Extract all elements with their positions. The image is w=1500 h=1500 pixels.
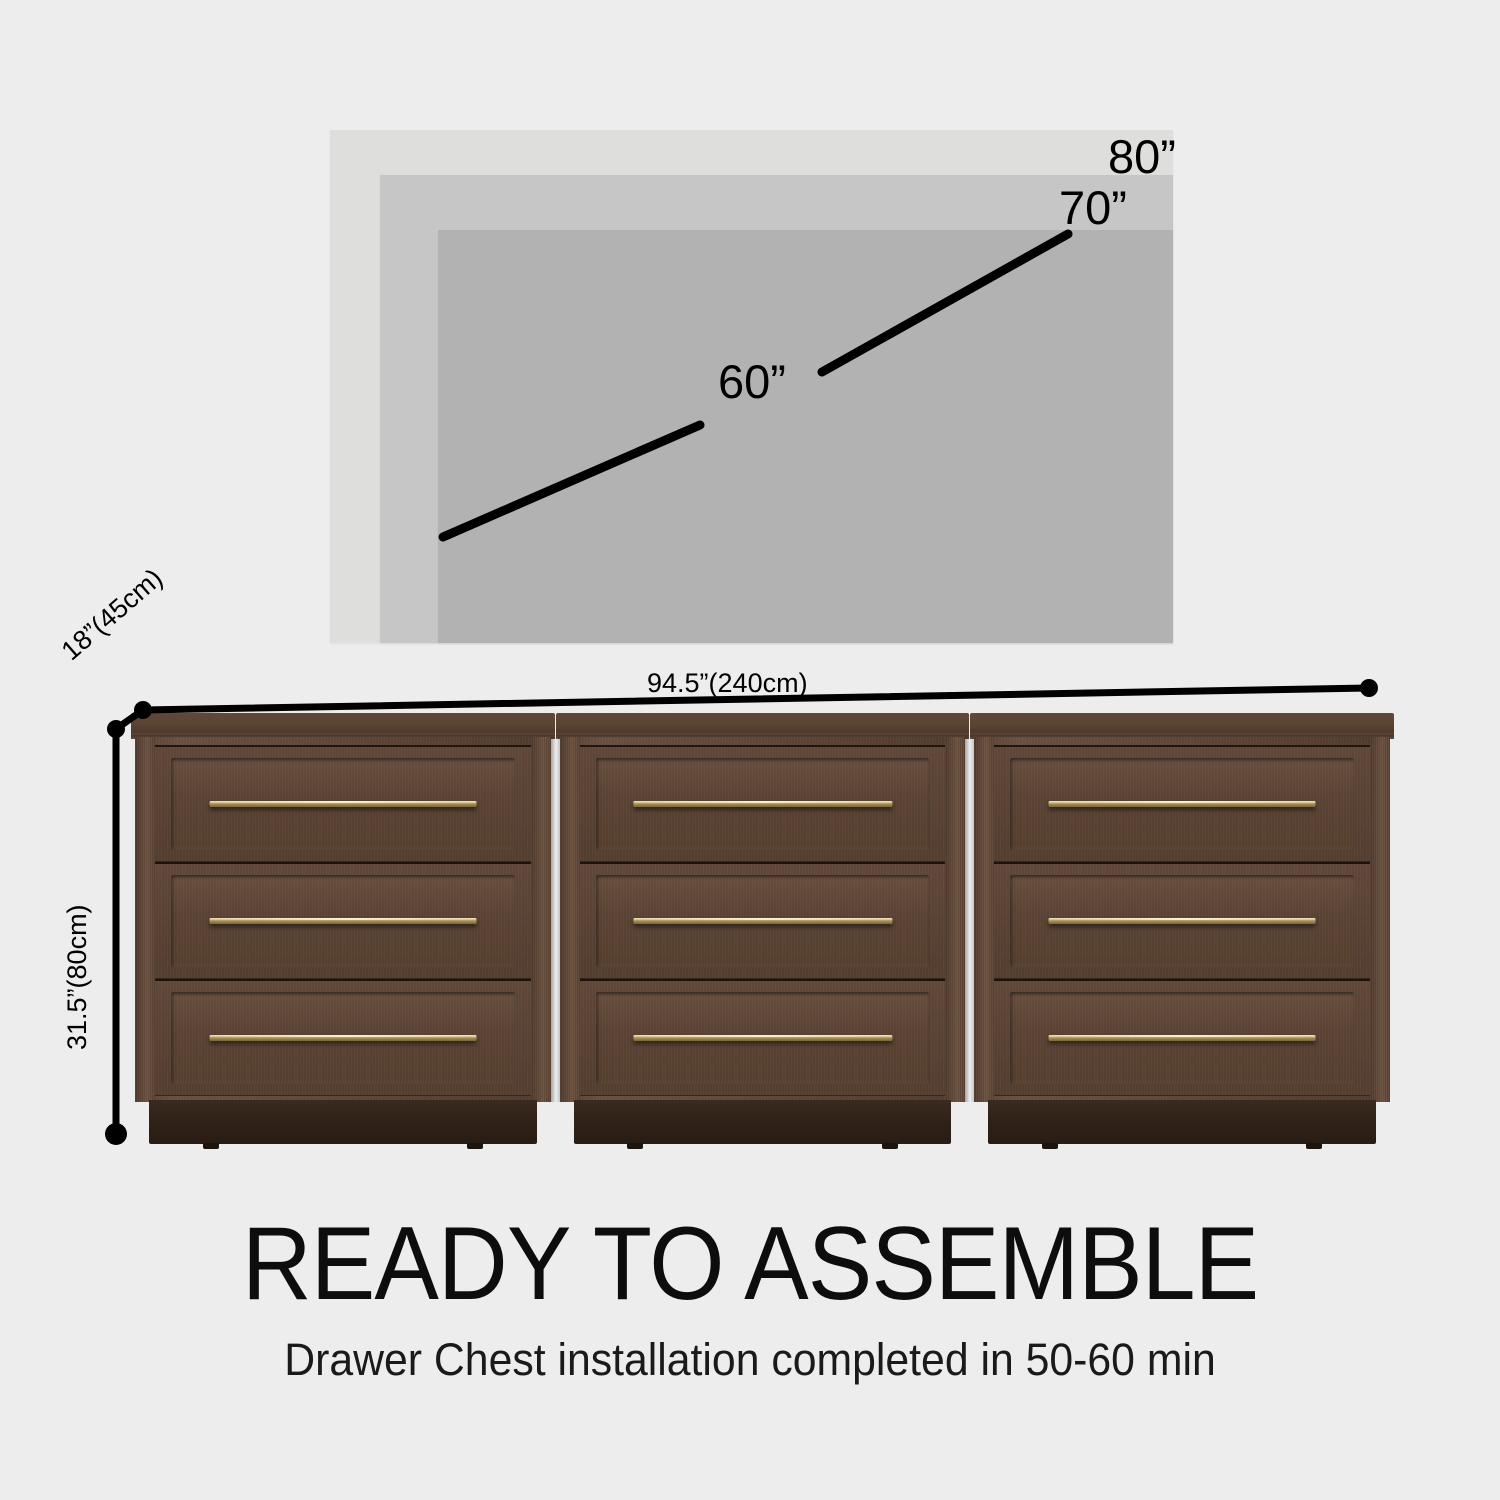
dimension-endpoint-height-bottom bbox=[105, 1123, 127, 1145]
drawer[interactable] bbox=[580, 862, 945, 979]
drawer[interactable] bbox=[155, 745, 531, 862]
base-foot bbox=[203, 1143, 219, 1149]
drawer[interactable] bbox=[994, 979, 1370, 1096]
base-foot bbox=[467, 1143, 483, 1149]
base-foot bbox=[882, 1143, 898, 1149]
dimension-label-height: 31.5”(80cm) bbox=[64, 904, 91, 1050]
dimension-endpoint-width-right bbox=[1360, 679, 1378, 697]
base-foot bbox=[627, 1143, 643, 1149]
unit-plinth-base bbox=[149, 1100, 537, 1144]
unit-top-surface bbox=[556, 713, 969, 739]
chest-unit-middle bbox=[556, 713, 969, 1150]
unit-stile-left bbox=[560, 737, 580, 1102]
drawer[interactable] bbox=[994, 862, 1370, 979]
drawer-stack bbox=[155, 745, 531, 1096]
drawer-handle-icon[interactable] bbox=[210, 918, 477, 924]
tv-size-diagram: 80” 70” 60” bbox=[330, 130, 1173, 643]
drawer[interactable] bbox=[155, 979, 531, 1096]
drawer-chest bbox=[131, 713, 1394, 1150]
unit-stile-left bbox=[974, 737, 994, 1102]
dimension-endpoint-depth-bottom bbox=[107, 720, 125, 738]
drawer-handle-icon[interactable] bbox=[1049, 801, 1316, 807]
unit-seam-left-mid bbox=[551, 737, 560, 1102]
dimension-line-width bbox=[143, 688, 1369, 710]
drawer-handle-icon[interactable] bbox=[633, 918, 892, 924]
base-foot bbox=[1042, 1143, 1058, 1149]
dimension-label-depth: 18”(45cm) bbox=[57, 564, 168, 665]
unit-stile-right bbox=[945, 737, 965, 1102]
drawer[interactable] bbox=[155, 862, 531, 979]
unit-carcass bbox=[560, 737, 965, 1102]
headline-ready-to-assemble: READY TO ASSEMBLE bbox=[53, 1212, 1448, 1316]
unit-seam-mid-right bbox=[965, 737, 974, 1102]
unit-stile-right bbox=[531, 737, 551, 1102]
screen-label-60in: 60” bbox=[718, 358, 786, 405]
drawer-handle-icon[interactable] bbox=[210, 801, 477, 807]
unit-plinth-base bbox=[574, 1100, 951, 1144]
drawer[interactable] bbox=[994, 745, 1370, 862]
drawer-handle-icon[interactable] bbox=[1049, 1035, 1316, 1041]
unit-carcass bbox=[974, 737, 1390, 1102]
unit-top-surface bbox=[131, 713, 555, 739]
subheadline-install-time: Drawer Chest installation completed in 5… bbox=[38, 1337, 1463, 1382]
drawer-stack bbox=[580, 745, 945, 1096]
unit-stile-left bbox=[135, 737, 155, 1102]
drawer-handle-icon[interactable] bbox=[633, 1035, 892, 1041]
unit-top-surface bbox=[970, 713, 1394, 739]
drawer-handle-icon[interactable] bbox=[1049, 918, 1316, 924]
drawer-handle-icon[interactable] bbox=[210, 1035, 477, 1041]
screen-label-80in: 80” bbox=[1108, 133, 1176, 180]
chest-unit-left bbox=[131, 713, 555, 1150]
infographic-canvas: 80” 70” 60” bbox=[0, 0, 1500, 1500]
drawer-stack bbox=[994, 745, 1370, 1096]
base-foot bbox=[1306, 1143, 1322, 1149]
unit-carcass bbox=[135, 737, 551, 1102]
dimension-label-width: 94.5”(240cm) bbox=[647, 670, 808, 697]
unit-stile-right bbox=[1370, 737, 1390, 1102]
screen-label-70in: 70” bbox=[1059, 184, 1127, 231]
drawer-handle-icon[interactable] bbox=[633, 801, 892, 807]
unit-plinth-base bbox=[988, 1100, 1376, 1144]
drawer[interactable] bbox=[580, 979, 945, 1096]
chest-unit-right bbox=[970, 713, 1394, 1150]
drawer[interactable] bbox=[580, 745, 945, 862]
